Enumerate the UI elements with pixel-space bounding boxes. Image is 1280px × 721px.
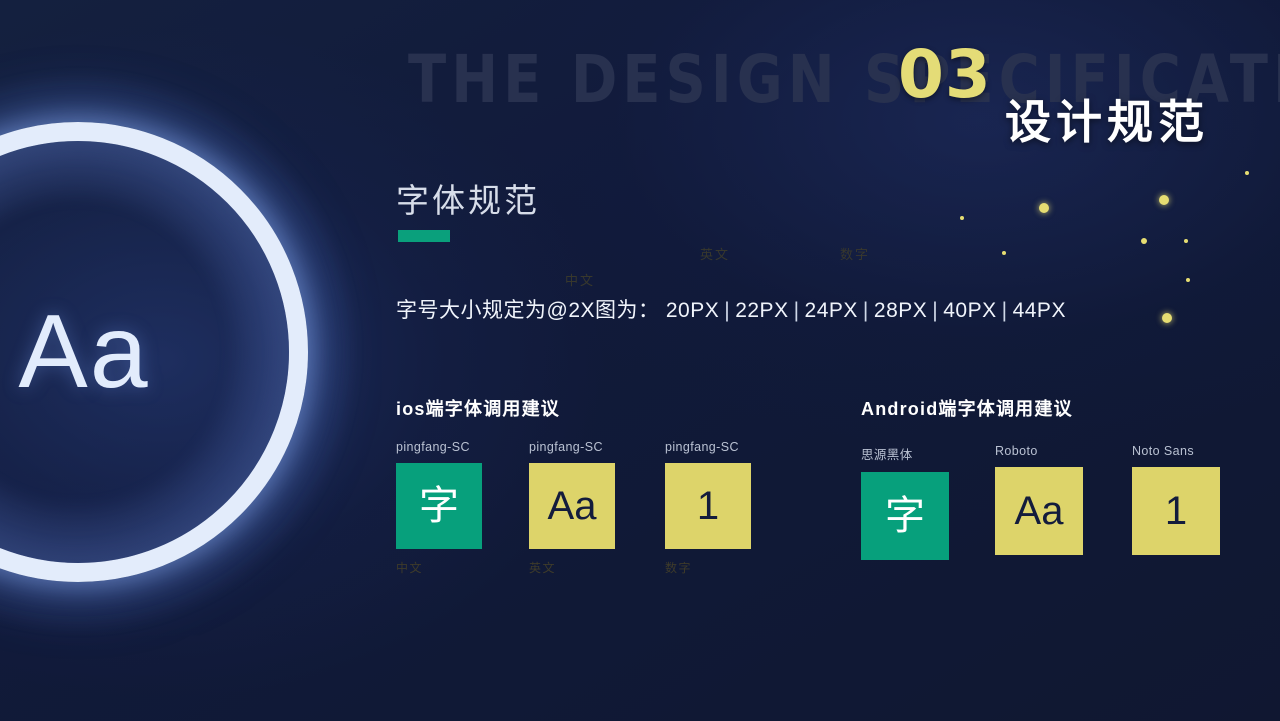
font-card[interactable]: RobotoAa <box>995 444 1083 555</box>
star-dot-icon <box>1184 239 1188 243</box>
font-card[interactable]: pingfang-SC字中文 <box>396 440 482 576</box>
font-card-label: 思源黑体 <box>861 444 949 463</box>
star-dot-icon <box>1245 171 1249 175</box>
background-watermark-label: 中文 <box>565 270 595 289</box>
font-sample-glyph: Aa <box>1015 491 1064 531</box>
size-spec-separator: | <box>997 299 1013 322</box>
size-spec-prefix: 字号大小规定为@2X图为： <box>396 299 660 322</box>
font-sample-glyph: 字 <box>885 496 925 536</box>
font-card[interactable]: Noto Sans1 <box>1132 444 1220 555</box>
aa-ring-decoration: Aa <box>0 122 308 582</box>
font-card-label: pingfang-SC <box>529 440 615 454</box>
font-card[interactable]: 思源黑体字 <box>861 444 949 560</box>
section-number: 03 <box>898 36 992 113</box>
star-dot-icon <box>1002 251 1006 255</box>
size-spec-separator: | <box>789 299 805 322</box>
slide-canvas: THE DESIGN SPECIFICATION 03 设计规范 Aa 字体规范… <box>0 0 1280 721</box>
size-spec-value: 20PX <box>666 299 719 322</box>
size-spec-value: 28PX <box>874 299 927 322</box>
background-watermark-label: 英文 <box>700 244 730 263</box>
star-dot-icon <box>960 216 964 220</box>
font-card[interactable]: pingfang-SC1数字 <box>665 440 751 576</box>
font-sample-swatch[interactable]: 字 <box>861 472 949 560</box>
size-spec-value: 22PX <box>735 299 788 322</box>
heading-underline-bar <box>398 230 450 242</box>
font-card-caption: 数字 <box>665 559 751 576</box>
font-sample-glyph: 1 <box>1165 491 1187 531</box>
ring-aa-label: Aa <box>0 122 308 582</box>
font-card[interactable]: pingfang-SCAa英文 <box>529 440 615 576</box>
size-spec-value: 24PX <box>805 299 858 322</box>
size-spec-separator: | <box>927 299 943 322</box>
font-sample-swatch[interactable]: 1 <box>1132 467 1220 555</box>
font-sample-swatch[interactable]: 字 <box>396 463 482 549</box>
font-sample-glyph: Aa <box>548 486 597 526</box>
platform-title: ios端字体调用建议 <box>396 395 560 421</box>
platform-title: Android端字体调用建议 <box>861 395 1073 421</box>
star-dot-icon <box>1186 278 1190 282</box>
size-spec-separator: | <box>719 299 735 322</box>
font-card-caption: 英文 <box>529 559 615 576</box>
star-dot-icon <box>1162 313 1172 323</box>
section-heading: 字体规范 <box>396 174 540 222</box>
font-sample-swatch[interactable]: 1 <box>665 463 751 549</box>
star-dot-icon <box>1039 203 1049 213</box>
font-sample-swatch[interactable]: Aa <box>529 463 615 549</box>
font-card-label: pingfang-SC <box>396 440 482 454</box>
font-card-label: Roboto <box>995 444 1083 458</box>
font-sample-glyph: 字 <box>419 486 459 526</box>
star-dot-icon <box>1159 195 1169 205</box>
font-card-caption: 中文 <box>396 559 482 576</box>
font-size-spec-line: 字号大小规定为@2X图为： 20PX|22PX|24PX|28PX|40PX|4… <box>396 294 1066 324</box>
font-sample-glyph: 1 <box>697 486 719 526</box>
size-spec-value: 44PX <box>1013 299 1066 322</box>
font-sample-swatch[interactable]: Aa <box>995 467 1083 555</box>
font-card-label: pingfang-SC <box>665 440 751 454</box>
star-dot-icon <box>1141 238 1147 244</box>
size-spec-separator: | <box>858 299 874 322</box>
background-watermark-label: 数字 <box>840 244 870 263</box>
size-spec-value: 40PX <box>943 299 996 322</box>
font-card-label: Noto Sans <box>1132 444 1220 458</box>
page-title: 设计规范 <box>1005 86 1209 152</box>
